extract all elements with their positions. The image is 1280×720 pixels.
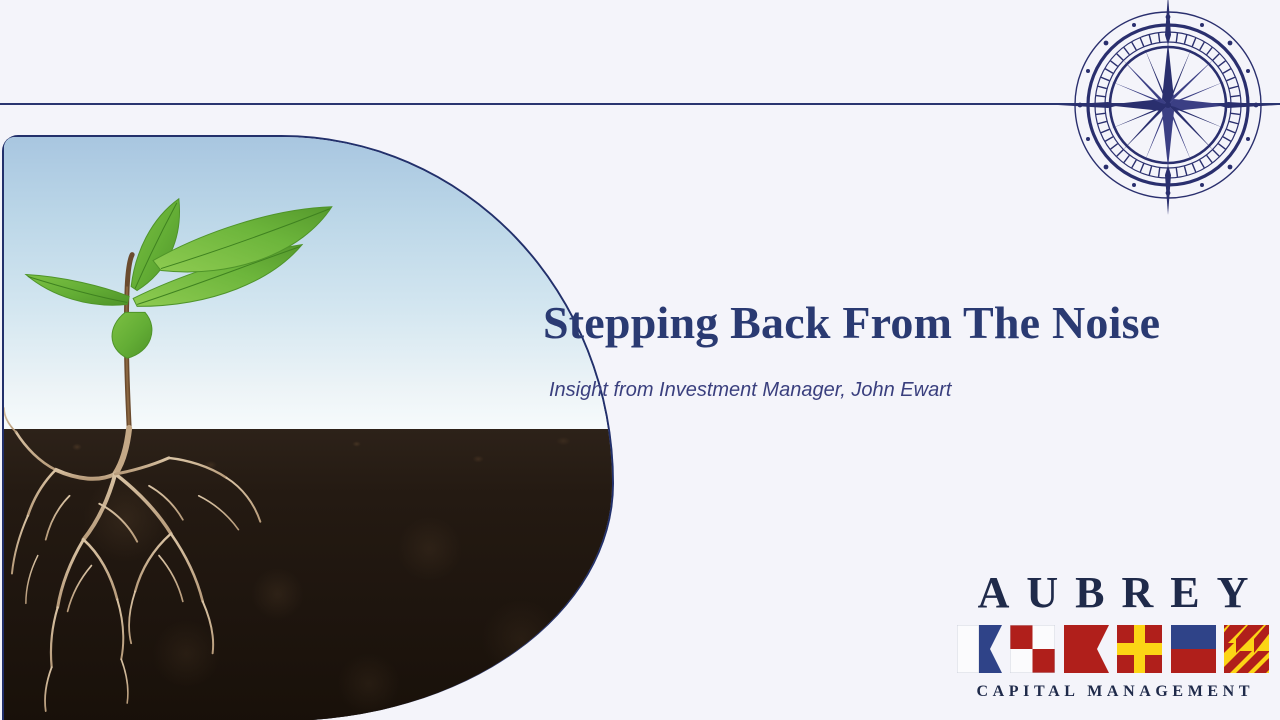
signal-flag-row: [957, 625, 1269, 673]
logo-wordmark: AUBREY: [957, 566, 1269, 620]
signal-flag-a: [957, 625, 1002, 673]
presentation-slide: Stepping Back From The Noise Insight fro…: [0, 0, 1280, 720]
compass-rose-icon: [1058, 0, 1278, 215]
slide-subtitle: Insight from Investment Manager, John Ew…: [549, 377, 1249, 403]
logo-tagline: CAPITAL MANAGEMENT: [957, 677, 1269, 707]
aubrey-capital-management-logo: AUBREY: [957, 566, 1269, 706]
signal-flag-u: [1010, 625, 1055, 673]
seedling-in-soil-photo: [2, 135, 614, 720]
seedling-illustration: [4, 137, 612, 720]
signal-flag-y: [1224, 625, 1269, 673]
header-divider-rule: [0, 103, 1280, 105]
signal-flag-r: [1117, 625, 1162, 673]
signal-flag-e: [1171, 625, 1216, 673]
image-clip-shape: [2, 135, 614, 720]
signal-flag-b: [1064, 625, 1109, 673]
slide-title: Stepping Back From The Noise: [543, 297, 1243, 350]
